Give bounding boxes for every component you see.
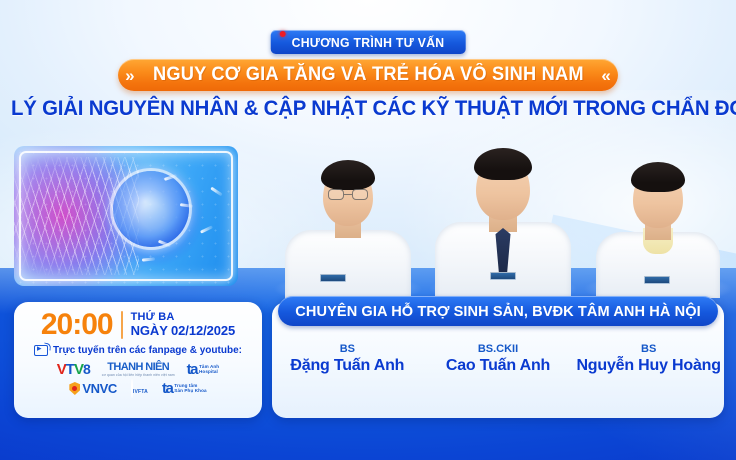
expert-item: BS Nguyễn Huy Hoàng (574, 342, 723, 376)
name-tag (644, 276, 670, 284)
san-phu-khoa-logo[interactable]: ta Trung tâm Sản Phụ Khoa (162, 381, 207, 396)
ivfta-label: IVFTA (133, 389, 148, 395)
name-tag (320, 274, 346, 282)
name-tag (490, 272, 516, 280)
expert-item: BS.CKII Cao Tuấn Anh (423, 342, 572, 376)
schedule-card: 20:00 THỨ BA NGÀY 02/12/2025 Trực tuyến … (14, 302, 262, 418)
expert-degree: BS (574, 342, 723, 356)
date-block: THỨ BA NGÀY 02/12/2025 (131, 312, 236, 338)
embryo-illustration (14, 146, 238, 286)
live-row: Trực tuyến trên các fanpage & youtube: (14, 345, 262, 356)
expert-photo-3 (588, 150, 728, 298)
thanh-nien-sublabel: cơ quan của hội liên hiệp thanh niên việ… (102, 374, 175, 377)
thanh-nien-label: THANH NIÊN (107, 362, 169, 373)
vnvc-logo[interactable]: VNVC (69, 382, 117, 395)
time-row: 20:00 THỨ BA NGÀY 02/12/2025 (14, 310, 262, 340)
experts-name-list: BS Đặng Tuấn Anh BS.CKII Cao Tuấn Anh BS… (272, 342, 724, 376)
vtv8-logo[interactable]: VTV8 (57, 362, 90, 377)
webinar-poster: CHƯƠNG TRÌNH TƯ VẤN » NGUY CƠ GIA TĂNG V… (0, 0, 736, 460)
expert-photo-2 (428, 138, 578, 298)
program-badge-label: CHƯƠNG TRÌNH TƯ VẤN (292, 35, 445, 50)
shield-icon (69, 382, 80, 395)
glasses-icon (328, 189, 368, 200)
experts-band: CHUYÊN GIA HỖ TRỢ SINH SẢN, BVĐK TÂM ANH… (278, 296, 718, 326)
livestream-icon (34, 345, 48, 356)
partner-logos: VTV8 THANH NIÊN cơ quan của hội liên hiệ… (14, 360, 262, 398)
white-coat (285, 230, 411, 298)
chevron-left-icon: « (601, 67, 610, 84)
expert-name: Cao Tuấn Anh (423, 356, 572, 376)
hair (474, 148, 532, 180)
ta-monogram: ta (162, 381, 172, 396)
expert-item: BS Đặng Tuấn Anh (273, 342, 422, 376)
expert-name: Đặng Tuấn Anh (273, 356, 422, 376)
live-label: Trực tuyến trên các fanpage & youtube: (53, 345, 242, 356)
experts-photo-group (268, 138, 736, 298)
tam-anh-line2: Hospital (199, 370, 219, 375)
tam-anh-hospital-logo[interactable]: ta Tâm Anh Hospital (187, 362, 220, 377)
hair (631, 162, 685, 192)
ta-monogram: ta (187, 362, 197, 377)
san-phu-khoa-line2: Sản Phụ Khoa (174, 389, 206, 394)
experts-card: CHUYÊN GIA HỖ TRỢ SINH SẢN, BVĐK TÂM ANH… (272, 302, 724, 418)
vnvc-label: VNVC (82, 382, 117, 395)
chevron-right-icon: » (125, 67, 134, 84)
expert-degree: BS.CKII (423, 342, 572, 356)
page-title: LÝ GIẢI NGUYÊN NHÂN & CẬP NHẬT CÁC KỸ TH… (11, 97, 725, 121)
expert-degree: BS (273, 342, 422, 356)
divider (121, 311, 123, 339)
topic-pill-label: NGUY CƠ GIA TĂNG VÀ TRẺ HÓA VÔ SINH NAM (153, 64, 584, 86)
thanh-nien-logo[interactable]: THANH NIÊN cơ quan của hội liên hiệp tha… (102, 362, 175, 377)
expert-photo-1 (278, 148, 418, 298)
partner-logo-row-2: VNVC IVFTA ta Trung tâm Sản Phụ Khoa (14, 379, 262, 398)
program-badge: CHƯƠNG TRÌNH TƯ VẤN (271, 30, 466, 54)
ivfta-logo[interactable]: IVFTA (131, 380, 148, 398)
topic-pill: » NGUY CƠ GIA TĂNG VÀ TRẺ HÓA VÔ SINH NA… (118, 59, 618, 91)
expert-name: Nguyễn Huy Hoàng (574, 356, 723, 376)
broadcast-date: NGÀY 02/12/2025 (131, 324, 236, 338)
hair (321, 160, 375, 190)
record-dot-icon (280, 31, 286, 37)
broadcast-time: 20:00 (41, 310, 113, 340)
experts-band-label: CHUYÊN GIA HỖ TRỢ SINH SẢN, BVĐK TÂM ANH… (295, 303, 701, 320)
partner-logo-row-1: VTV8 THANH NIÊN cơ quan của hội liên hiệ… (14, 360, 262, 379)
artwork-frame (19, 151, 233, 281)
